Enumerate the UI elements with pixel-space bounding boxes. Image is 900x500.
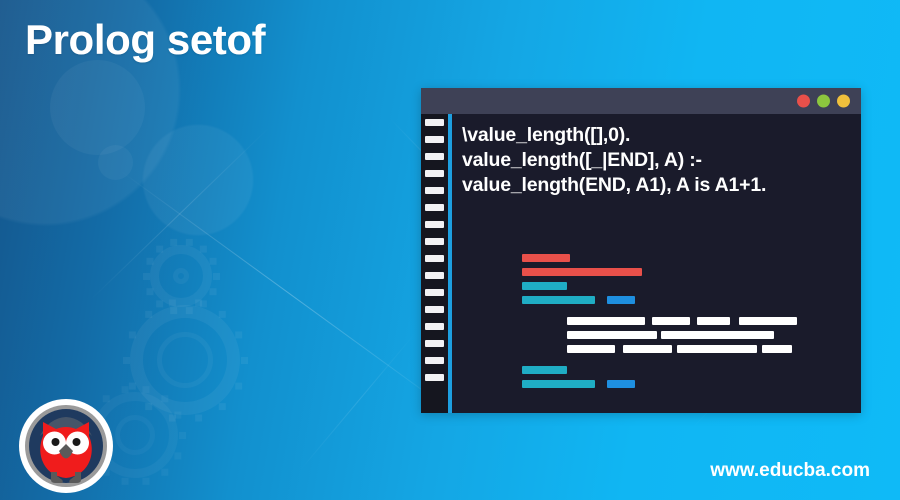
decoration-gap: [595, 384, 607, 385]
line-number-gutter: [421, 114, 448, 413]
decoration-bar-row: [462, 254, 855, 262]
gutter-dash: [425, 255, 444, 262]
decoration-bar-row: [462, 366, 855, 374]
decoration-bar: [522, 268, 642, 276]
gear-tooth: [161, 395, 168, 402]
gutter-dash: [425, 238, 444, 245]
code-window: \value_length([],0). value_length([_|END…: [421, 88, 861, 413]
decoration-bar: [739, 317, 797, 325]
decoration-bar: [567, 317, 645, 325]
gear-tooth: [146, 257, 153, 264]
decoration-bar: [522, 296, 595, 304]
gear-tooth: [235, 382, 242, 389]
gutter-dash: [425, 221, 444, 228]
gear-tooth: [145, 310, 152, 317]
gear-tooth: [241, 357, 248, 364]
decoration-bar: [762, 345, 792, 353]
gutter-dash: [425, 153, 444, 160]
gear-tooth: [213, 273, 220, 280]
gear-tooth: [199, 245, 206, 252]
code-line: value_length([_|END], A) :-: [462, 148, 861, 173]
decoration-bar-row: [462, 317, 855, 325]
decoration-bar: [522, 380, 595, 388]
decoration-gap: [595, 300, 607, 301]
gear-tooth: [128, 331, 135, 338]
gutter-dash: [425, 272, 444, 279]
gear-tooth: [146, 288, 153, 295]
decoration-bar: [522, 282, 567, 290]
gear-tooth: [185, 238, 192, 245]
code-body: \value_length([],0). value_length([_|END…: [421, 114, 861, 413]
decoration-bar-row: [462, 282, 855, 290]
gear-tooth: [209, 257, 216, 264]
gutter-dash: [425, 357, 444, 364]
decoration-bar: [522, 366, 567, 374]
gear-tooth: [174, 452, 181, 459]
gear-tooth: [161, 468, 168, 475]
banner-canvas: Prolog setof www.educba.com: [0, 0, 900, 500]
code-line: \value_length([],0).: [462, 123, 861, 148]
gutter-dash: [425, 306, 444, 313]
gutter-dash: [425, 187, 444, 194]
gutter-dash: [425, 119, 444, 126]
gutter-dash: [425, 136, 444, 143]
gutter-dash: [425, 340, 444, 347]
decoration-spacer: [462, 359, 463, 360]
decoration-bar: [567, 331, 657, 339]
gear-tooth: [143, 273, 150, 280]
decoration-bar: [652, 317, 690, 325]
gear-tooth: [218, 403, 225, 410]
decoration-bar-row: [462, 331, 855, 339]
decoration-gap: [730, 321, 739, 322]
decoration-bar: [607, 296, 635, 304]
decoration-bar: [522, 254, 570, 262]
decoration-bar-row: [462, 380, 855, 388]
gear-teeth: [150, 245, 212, 307]
decoration-bar-row: [462, 268, 855, 276]
decorative-diagonal-line: [300, 332, 416, 471]
code-line: value_length(END, A1), A is A1+1.: [462, 173, 861, 198]
gear-tooth: [179, 432, 186, 439]
gutter-dash: [425, 170, 444, 177]
gear-tooth: [195, 299, 202, 306]
gear-tooth: [235, 331, 242, 338]
decoration-bar-row: [462, 345, 855, 353]
window-titlebar: [421, 88, 861, 114]
footer-url: www.educba.com: [710, 460, 870, 482]
gear-icon: [150, 245, 212, 307]
gear-tooth: [170, 238, 177, 245]
page-title: Prolog setof: [25, 16, 265, 64]
gear-tooth: [218, 310, 225, 317]
gear-tooth: [156, 245, 163, 252]
gear-tooth: [174, 411, 181, 418]
gear-tooth: [123, 357, 130, 364]
decoration-spacer: [462, 310, 463, 311]
window-controls: [797, 95, 850, 108]
decoration-bar-row: [462, 310, 855, 311]
decoration-bar: [567, 345, 615, 353]
code-content[interactable]: \value_length([],0). value_length([_|END…: [452, 114, 861, 413]
decoration-bar: [607, 380, 635, 388]
gear-tooth: [168, 299, 175, 306]
gear-tooth: [209, 288, 216, 295]
maximize-dot[interactable]: [837, 95, 850, 108]
minimize-dot[interactable]: [817, 95, 830, 108]
decoration-gap: [690, 321, 697, 322]
gear-tooth: [142, 477, 149, 484]
gutter-dash: [425, 289, 444, 296]
educba-owl-logo: [16, 396, 116, 496]
decoration-bar: [623, 345, 672, 353]
decoration-bar-row: [462, 296, 855, 304]
gear-tooth: [121, 477, 128, 484]
decoration-bar: [677, 345, 757, 353]
decorative-circle-large: [50, 60, 145, 155]
gutter-dash: [425, 204, 444, 211]
gear-tooth: [142, 386, 149, 393]
gear-tooth: [195, 414, 202, 421]
gear-tooth: [156, 300, 163, 307]
gutter-dash: [425, 374, 444, 381]
code-decoration-bars: [462, 254, 855, 394]
close-dot[interactable]: [797, 95, 810, 108]
gear-tooth: [128, 382, 135, 389]
gear-tooth: [121, 386, 128, 393]
decoration-gap: [645, 321, 652, 322]
decoration-bar-row: [462, 359, 855, 360]
gutter-dash: [425, 323, 444, 330]
decoration-bar: [697, 317, 730, 325]
decoration-gap: [615, 349, 623, 350]
decoration-bar: [661, 331, 774, 339]
